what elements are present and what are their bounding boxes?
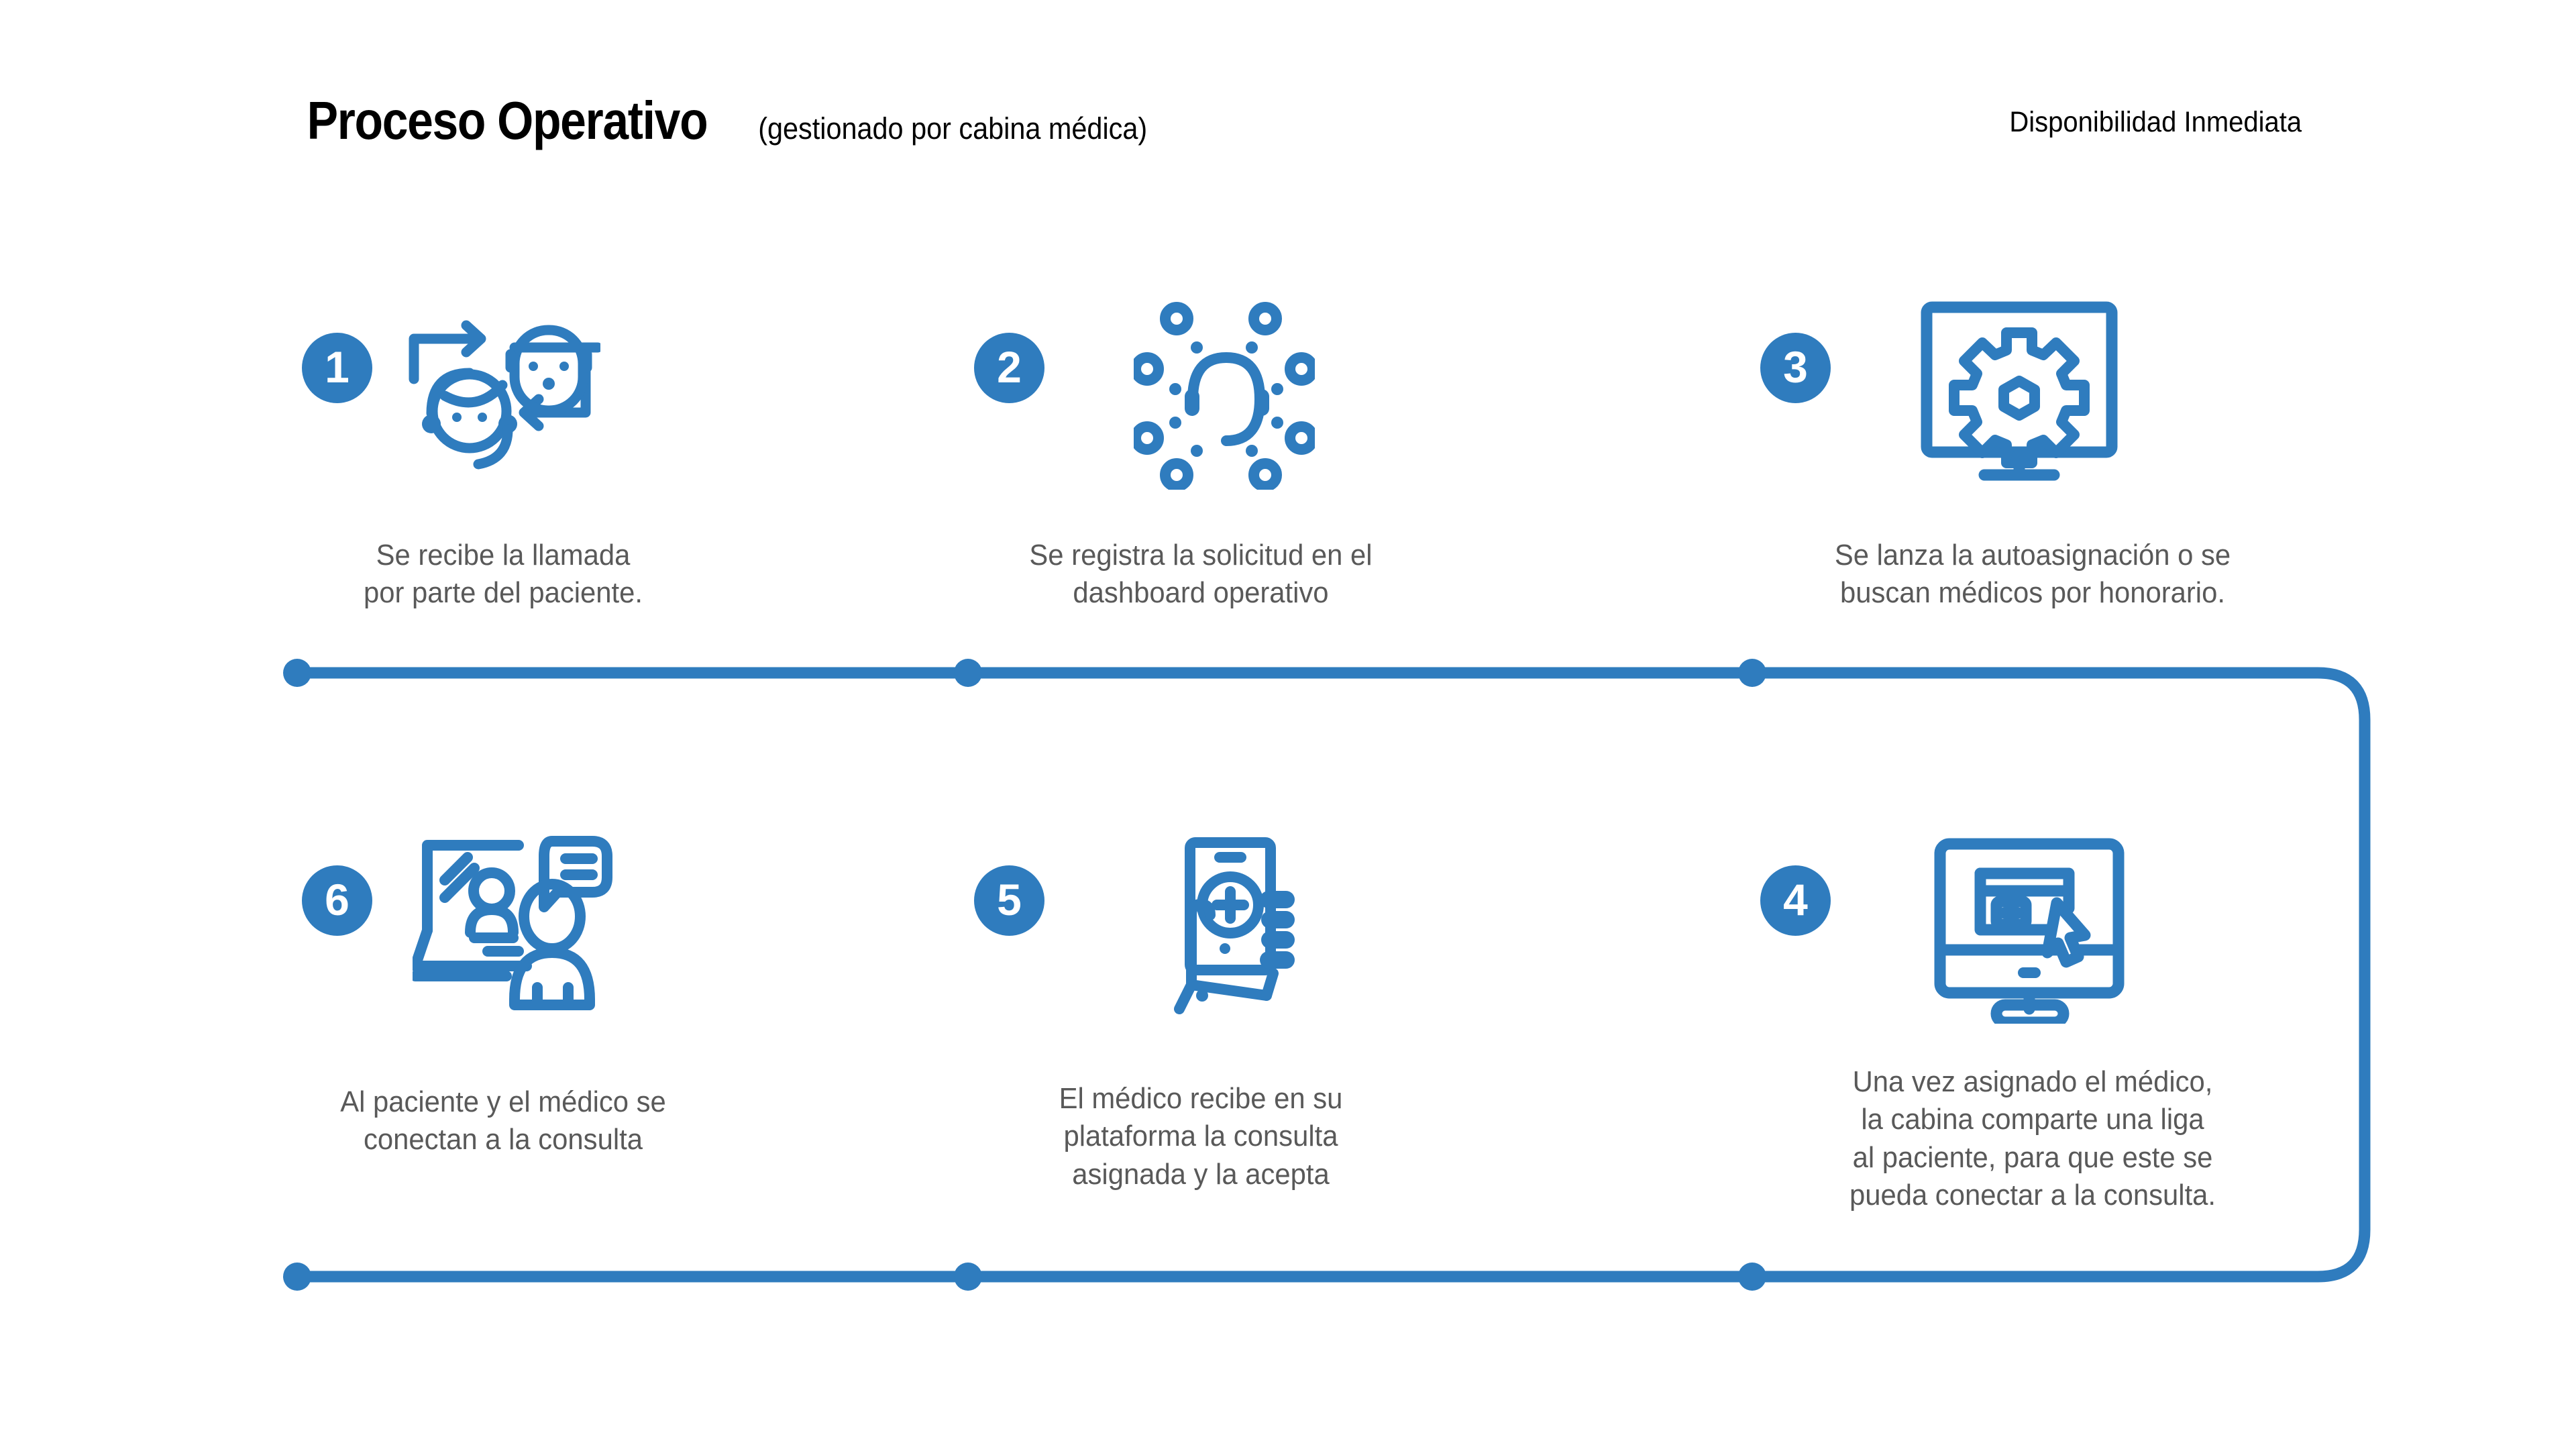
connector-node bbox=[954, 659, 982, 687]
step-6-head: 6 bbox=[295, 825, 711, 1040]
step-number-badge-6: 6 bbox=[302, 865, 372, 936]
step-4-caption: Una vez asignado el médico, la cabina co… bbox=[1765, 1063, 2300, 1214]
page-title-subtitle: (gestionado por cabina médica) bbox=[758, 113, 1147, 144]
process-step-4[interactable]: 4 Una vez bbox=[1751, 825, 2314, 1040]
process-step-6[interactable]: 6 bbox=[295, 825, 711, 1040]
process-step-1[interactable]: 1 bbox=[295, 288, 711, 503]
page-title-main: Proceso Operativo bbox=[307, 94, 708, 148]
process-flow-connector bbox=[0, 0, 2576, 1449]
step-6-caption: Al paciente y el médico se conectan a la… bbox=[293, 1083, 714, 1159]
hand-smartphone-medical-cross-icon bbox=[1161, 836, 1301, 1017]
step-1-head: 1 bbox=[295, 288, 711, 503]
connector-node bbox=[954, 1263, 982, 1291]
process-step-3[interactable]: 3 Se lanza la autoasignación o se buscan… bbox=[1751, 288, 2314, 503]
step-3-caption: Se lanza la autoasignación o se buscan m… bbox=[1752, 537, 2313, 612]
connector-node bbox=[283, 659, 311, 687]
slide-header: Proceso Operativo (gestionado por cabina… bbox=[0, 0, 2576, 174]
step-number-badge-1: 1 bbox=[302, 333, 372, 403]
call-center-agent-patient-icon bbox=[399, 302, 600, 483]
step-5-caption: El médico recibe en su plataforma la con… bbox=[959, 1080, 1443, 1193]
step-2-caption: Se registra la solicitud en el dashboard… bbox=[953, 537, 1450, 612]
step-2-head: 2 bbox=[966, 288, 1436, 503]
step-1-caption: Se recibe la llamada por parte del pacie… bbox=[306, 537, 701, 612]
monitor-gear-icon bbox=[1919, 299, 2120, 487]
step-number-badge-4: 4 bbox=[1760, 865, 1831, 936]
video-consultation-chat-icon bbox=[413, 832, 614, 1013]
step-4-head: 4 bbox=[1751, 825, 2314, 1040]
step-number-badge-2: 2 bbox=[974, 333, 1044, 403]
headset-radiating-dots-icon bbox=[1134, 295, 1315, 490]
monitor-link-cursor-icon bbox=[1932, 836, 2127, 1024]
step-3-head: 3 bbox=[1751, 288, 2314, 503]
availability-note: Disponibilidad Inmediata bbox=[2010, 106, 2302, 139]
slide-canvas: Proceso Operativo (gestionado por cabina… bbox=[0, 0, 2576, 1449]
step-5-head: 5 bbox=[966, 825, 1436, 1040]
page-title: Proceso Operativo (gestionado por cabina… bbox=[277, 94, 1164, 148]
process-step-5[interactable]: 5 bbox=[966, 825, 1436, 1040]
connector-node bbox=[283, 1263, 311, 1291]
connector-node bbox=[1738, 1263, 1766, 1291]
step-number-badge-3: 3 bbox=[1760, 333, 1831, 403]
process-step-2[interactable]: 2 bbox=[966, 288, 1436, 503]
step-number-badge-5: 5 bbox=[974, 865, 1044, 936]
connector-node bbox=[1738, 659, 1766, 687]
